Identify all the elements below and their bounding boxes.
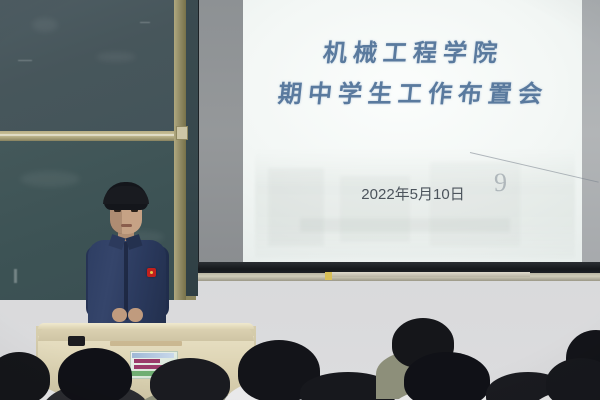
- ghost-shape: [268, 168, 324, 246]
- lecture-hall-photo: 9 机械工程学院 期中学生工作布置会 2022年5月10日: [0, 0, 600, 400]
- blackboard-upper-panel: [0, 0, 176, 134]
- blackboard-rail-highlight: [0, 134, 182, 136]
- slide-date: 2022年5月10日: [243, 183, 583, 204]
- speaker-hand-left: [112, 308, 127, 322]
- sticker-header-band: [132, 353, 174, 358]
- slide-title-line1: 机械工程学院: [242, 40, 585, 68]
- sticker-text-line1: [134, 359, 160, 363]
- audience-head: [404, 352, 490, 400]
- screen-right-edge: [582, 0, 600, 268]
- speaker-mouth: [121, 224, 132, 227]
- podium-printed-logo: [110, 341, 182, 346]
- rail-tab: [325, 272, 332, 280]
- audience-head: [150, 358, 230, 400]
- audience-head: [58, 348, 132, 400]
- slide-title-line2: 期中学生工作布置会: [242, 81, 585, 109]
- ghost-shape: [300, 218, 510, 232]
- screen-unlit-area: [199, 0, 245, 266]
- blackboard-side-strip: [184, 0, 198, 296]
- speaker-badge-emblem: [150, 271, 153, 274]
- screen-bottom-rail-secondary: [330, 272, 530, 277]
- speaker-shirt-placket: [124, 242, 128, 320]
- podium-lip: [38, 323, 254, 329]
- blackboard-vertical-post: [174, 0, 186, 300]
- blackboard-post-knob: [176, 126, 188, 140]
- phone-on-podium: [68, 336, 85, 346]
- speaker-hand-right: [128, 308, 143, 322]
